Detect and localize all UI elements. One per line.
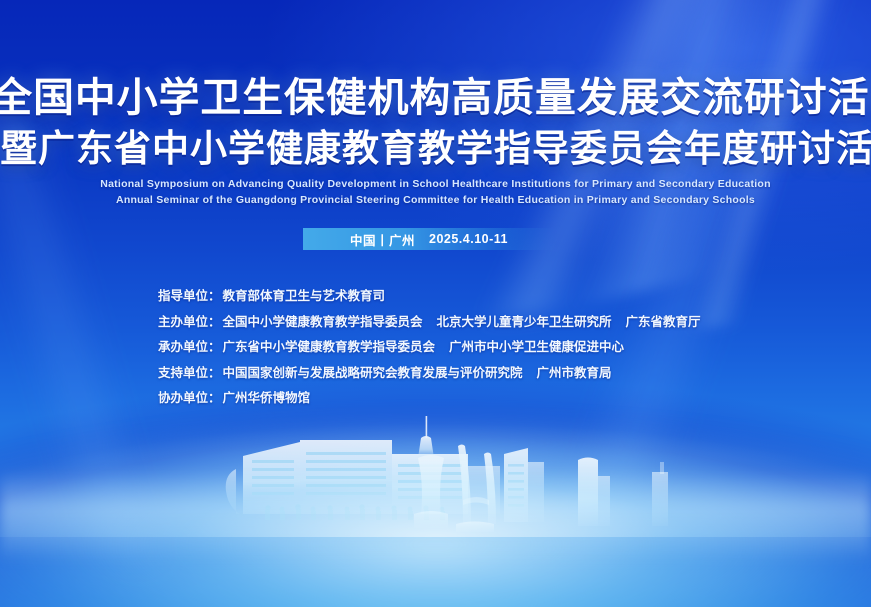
horizon-glow bbox=[0, 425, 871, 607]
school-building-icon bbox=[226, 440, 500, 520]
english-title-line2: Annual Seminar of the Guangdong Provinci… bbox=[0, 194, 871, 206]
badge-date: 2025.4.10-11 bbox=[429, 232, 508, 246]
organization-label: 支持单位： bbox=[158, 366, 221, 380]
page-title: 全国中小学卫生保健机构高质量发展交流研讨活动 bbox=[0, 76, 871, 120]
organization-label: 协办单位： bbox=[158, 391, 221, 405]
organization-value: 北京大学儿童青少年卫生研究所 bbox=[437, 315, 612, 329]
organization-row: 协办单位：广州华侨博物馆 bbox=[158, 390, 858, 407]
location-date-badge: 中国丨广州 2025.4.10-11 bbox=[303, 228, 555, 250]
skyline-artwork bbox=[0, 414, 871, 549]
twin-spire-towers-icon bbox=[456, 445, 496, 533]
conference-poster: 全国中小学卫生保健机构高质量发展交流研讨活动 暨广东省中小学健康教育教学指导委员… bbox=[0, 0, 871, 607]
horizon-line bbox=[0, 407, 871, 537]
fog-bank bbox=[0, 471, 871, 561]
far-tower-icon bbox=[652, 462, 668, 526]
high-rise-block-icon bbox=[578, 458, 610, 527]
organization-value: 广州华侨博物馆 bbox=[223, 391, 311, 405]
office-tower-icon bbox=[504, 448, 544, 522]
organization-list: 指导单位：教育部体育卫生与艺术教育司 主办单位：全国中小学健康教育教学指导委员会… bbox=[158, 288, 858, 416]
organization-value: 全国中小学健康教育教学指导委员会 bbox=[223, 315, 423, 329]
page-subtitle: 暨广东省中小学健康教育教学指导委员会年度研讨活动 bbox=[0, 128, 871, 170]
organization-value: 广东省教育厅 bbox=[626, 315, 701, 329]
organization-label: 指导单位： bbox=[158, 289, 221, 303]
badge-location: 中国丨广州 bbox=[350, 230, 415, 249]
organization-row: 指导单位：教育部体育卫生与艺术教育司 bbox=[158, 288, 858, 305]
organization-label: 承办单位： bbox=[158, 340, 221, 354]
organization-value: 广州市中小学卫生健康促进中心 bbox=[449, 340, 624, 354]
organization-value: 广东省中小学健康教育教学指导委员会 bbox=[223, 340, 436, 354]
organization-label: 主办单位： bbox=[158, 315, 221, 329]
organization-value: 中国国家创新与发展战略研究会教育发展与评价研究院 bbox=[223, 366, 523, 380]
organization-value: 教育部体育卫生与艺术教育司 bbox=[223, 289, 386, 303]
organization-row: 承办单位：广东省中小学健康教育教学指导委员会广州市中小学卫生健康促进中心 bbox=[158, 339, 858, 356]
organization-value: 广州市教育局 bbox=[537, 366, 612, 380]
organization-row: 主办单位：全国中小学健康教育教学指导委员会北京大学儿童青少年卫生研究所广东省教育… bbox=[158, 314, 858, 331]
organization-row: 支持单位：中国国家创新与发展战略研究会教育发展与评价研究院广州市教育局 bbox=[158, 365, 858, 382]
canton-tower-icon bbox=[414, 416, 448, 528]
english-title-line1: National Symposium on Advancing Quality … bbox=[0, 178, 871, 190]
